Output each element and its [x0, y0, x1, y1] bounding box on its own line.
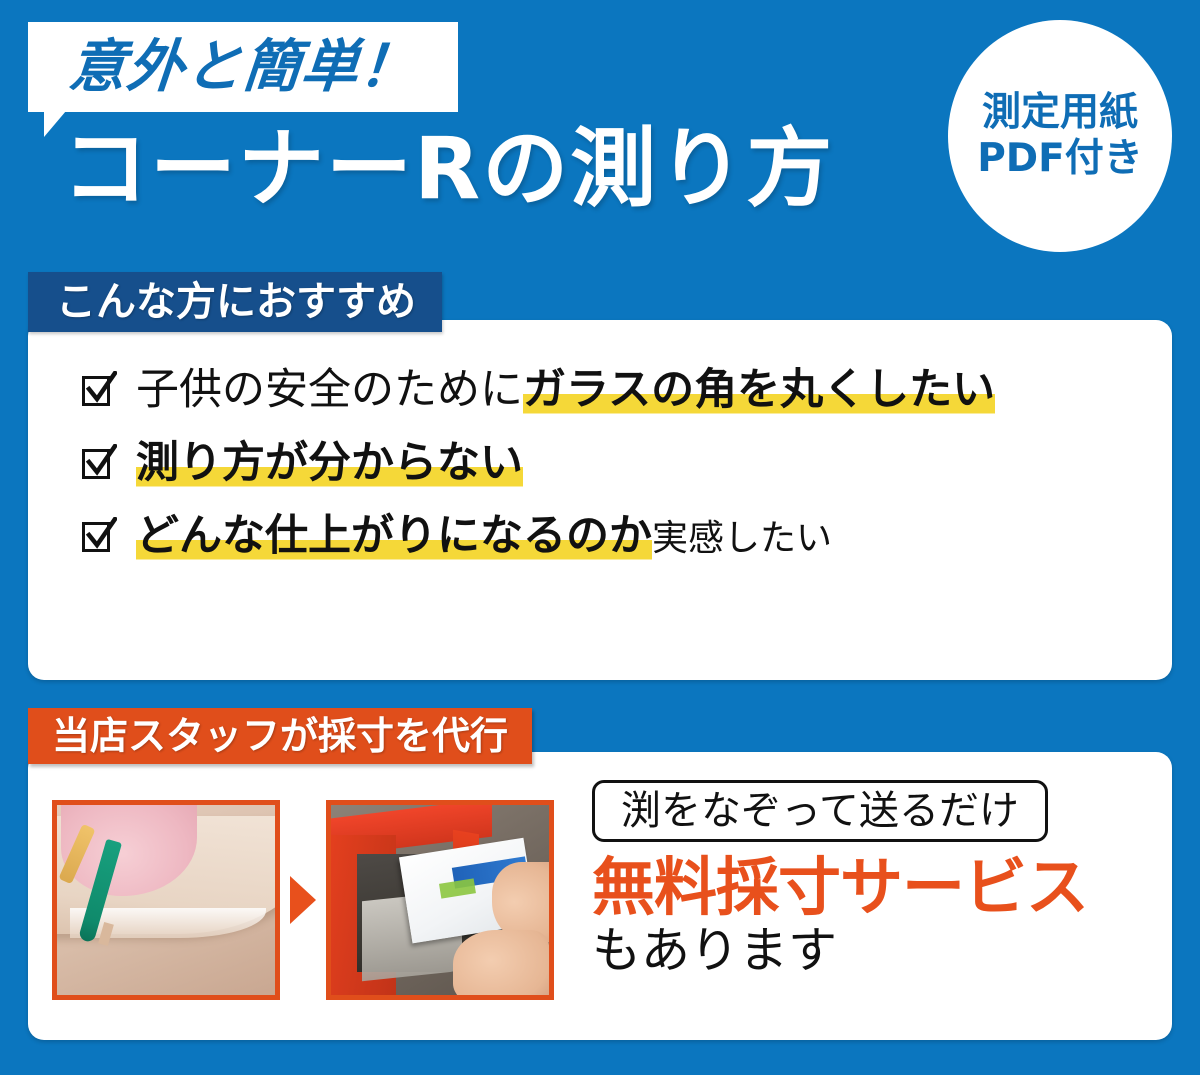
list-item-text: 子供の安全のためにガラスの角を丸くしたい — [136, 368, 995, 413]
list-item-prefix: 子供の安全のために — [136, 365, 523, 415]
list-item-text: どんな仕上がりになるのか実感したい — [136, 514, 832, 559]
service-pill-label: 渕をなぞって送るだけ — [621, 791, 1019, 831]
photo-mailbox-posting — [326, 800, 554, 1000]
recommend-tab-label: こんな方におすすめ — [56, 282, 416, 322]
pdf-badge-line1: 測定用紙 — [982, 91, 1138, 135]
list-item-highlight: どんな仕上がりになるのか — [136, 511, 652, 561]
speech-bubble-text: 意外と簡単！ — [67, 39, 420, 96]
arrow-right-icon — [290, 876, 316, 924]
service-subline: もあります — [592, 924, 1152, 978]
service-headline: 無料採寸サービス — [592, 854, 1152, 922]
service-photo-group — [52, 800, 554, 1000]
pdf-badge: 測定用紙 PDF付き — [948, 20, 1172, 252]
promo-banner: 意外と簡単！ コーナーRの測り方 測定用紙 PDF付き こんな方におすすめ 子供… — [0, 0, 1200, 1075]
recommend-list: 子供の安全のためにガラスの角を丸くしたい 測り方が分からない どんな仕上がりにな… — [82, 368, 995, 559]
checkbox-checked-icon — [82, 449, 116, 483]
list-item: 子供の安全のためにガラスの角を丸くしたい — [82, 368, 995, 413]
speech-bubble: 意外と簡単！ — [28, 22, 458, 112]
list-item: どんな仕上がりになるのか実感したい — [82, 514, 995, 559]
checkbox-checked-icon — [82, 522, 116, 556]
photo-tracing-corner — [52, 800, 280, 1000]
list-item: 測り方が分からない — [82, 441, 995, 486]
list-item-text: 測り方が分からない — [136, 441, 523, 486]
service-tab-label: 当店スタッフが採寸を代行 — [52, 717, 508, 755]
list-item-suffix: 実感したい — [652, 518, 832, 559]
recommend-tab: こんな方におすすめ — [28, 272, 442, 332]
pdf-badge-line2: PDF付き — [977, 137, 1143, 181]
page-title: コーナーRの測り方 — [62, 124, 834, 214]
service-text-block: 渕をなぞって送るだけ 無料採寸サービス もあります — [592, 780, 1152, 978]
service-tab: 当店スタッフが採寸を代行 — [28, 708, 532, 764]
list-item-highlight: ガラスの角を丸くしたい — [523, 365, 995, 415]
service-pill: 渕をなぞって送るだけ — [592, 780, 1048, 842]
checkbox-checked-icon — [82, 376, 116, 410]
list-item-highlight: 測り方が分からない — [136, 438, 523, 488]
